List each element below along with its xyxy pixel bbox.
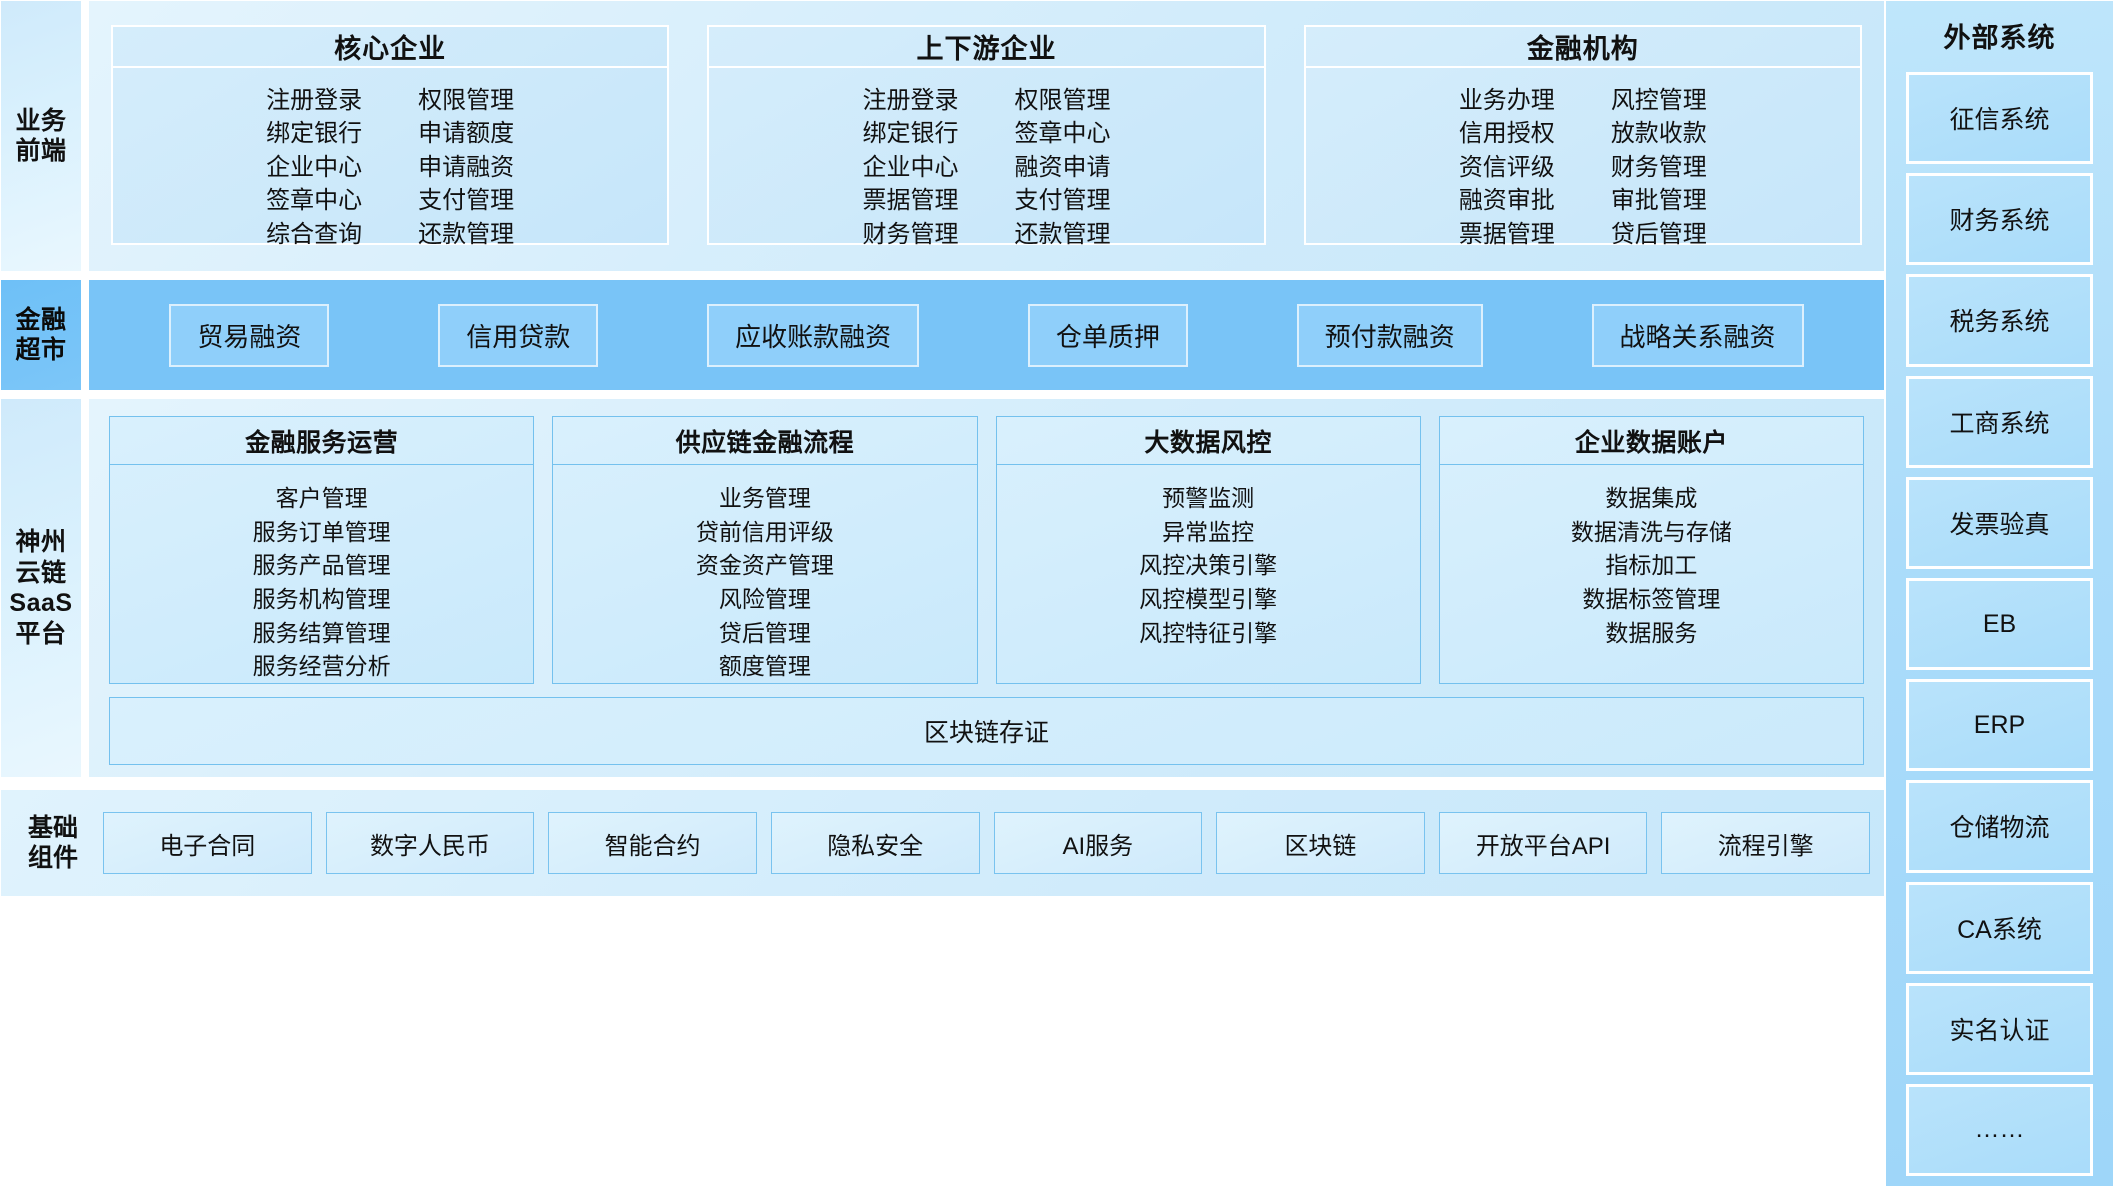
band-label-line1: 神州: [15, 528, 66, 556]
list-item: 绑定银行: [266, 118, 362, 149]
band-body-base-components: 基础 组件 电子合同 数字人民币 智能合约 隐私安全 AI服务 区块链 开放平台…: [0, 789, 1885, 897]
base-chip-process-engine[interactable]: 流程引擎: [1661, 812, 1870, 874]
card-body-upstream-downstream: 注册登录 绑定银行 企业中心 票据管理 财务管理 权限管理 签章中心 融资申请 …: [709, 68, 1263, 260]
list-item: 支付管理: [1014, 185, 1110, 216]
list-item: 客户管理: [276, 482, 368, 515]
feature-list-col2: 权限管理 签章中心 融资申请 支付管理 还款管理: [1014, 85, 1110, 250]
band-label-financial-market: 金融 超市: [0, 279, 82, 391]
band-financial-market: 金融 超市 贸易融资 信用贷款 应收账款融资 仓单质押 预付款融资 战略关系融资: [0, 279, 1885, 391]
list-item: 签章中心: [266, 185, 362, 216]
band-label-line2: 组件: [28, 844, 78, 872]
card-title-upstream-downstream: 上下游企业: [709, 27, 1263, 68]
card-core-enterprise[interactable]: 核心企业 注册登录 绑定银行 企业中心 签章中心 综合查询 权限管理 申请额度: [111, 25, 669, 245]
sidebar-item-more[interactable]: ……: [1906, 1084, 2093, 1176]
list-item: 融资申请: [1014, 152, 1110, 183]
list-item: 票据管理: [862, 185, 958, 216]
band-label-saas-platform: 神州 云链 SaaS 平台: [0, 398, 82, 778]
band-label-line4: 平台: [15, 620, 66, 648]
list-item: 融资审批: [1459, 185, 1555, 216]
feature-list-col2: 权限管理 申请额度 申请融资 支付管理 还款管理: [418, 85, 514, 250]
list-item: 数据清洗与存储: [1571, 516, 1732, 549]
card-title-big-data-risk-control: 大数据风控: [997, 417, 1420, 465]
sidebar-item-invoice-verification[interactable]: 发票验真: [1906, 477, 2093, 569]
card-title-financial-service-operation: 金融服务运营: [110, 417, 533, 465]
band-body-saas-platform: 金融服务运营 客户管理 服务订单管理 服务产品管理 服务机构管理 服务结算管理 …: [88, 398, 1885, 778]
list-item: 数据标签管理: [1582, 583, 1720, 616]
list-item: 资信评级: [1459, 152, 1555, 183]
list-item: 还款管理: [1014, 219, 1110, 250]
base-chip-privacy-security[interactable]: 隐私安全: [771, 812, 980, 874]
sidebar-item-business-registration-system[interactable]: 工商系统: [1906, 376, 2093, 468]
list-item: 服务产品管理: [253, 549, 391, 582]
sidebar-item-ca-system[interactable]: CA系统: [1906, 882, 2093, 974]
list-item: 权限管理: [1014, 85, 1110, 116]
band-body-business-frontend: 核心企业 注册登录 绑定银行 企业中心 签章中心 综合查询 权限管理 申请额度: [88, 0, 1885, 272]
sidebar-item-eb[interactable]: EB: [1906, 578, 2093, 670]
list-item: 贷前信用评级: [696, 516, 834, 549]
sidebar-item-warehouse-logistics[interactable]: 仓储物流: [1906, 780, 2093, 872]
list-item: 财务管理: [1611, 152, 1707, 183]
base-chip-smart-contract[interactable]: 智能合约: [548, 812, 757, 874]
list-item: 注册登录: [266, 85, 362, 116]
market-chip-strategic-relation-finance[interactable]: 战略关系融资: [1592, 304, 1804, 367]
list-item: 签章中心: [1014, 118, 1110, 149]
card-title-core-enterprise: 核心企业: [113, 27, 667, 68]
feature-list-col1: 注册登录 绑定银行 企业中心 票据管理 财务管理: [862, 85, 958, 250]
feature-list-col1: 业务办理 信用授权 资信评级 融资审批 票据管理: [1459, 85, 1555, 250]
sidebar-item-real-name-authentication[interactable]: 实名认证: [1906, 983, 2093, 1075]
external-systems-sidebar: 外部系统 征信系统 财务系统 税务系统 工商系统 发票验真 EB ERP 仓储物…: [1885, 0, 2114, 1187]
list-item: 额度管理: [719, 650, 811, 683]
sidebar-item-credit-system[interactable]: 征信系统: [1906, 72, 2093, 164]
list-item: 权限管理: [418, 85, 514, 116]
list-item: 贷后管理: [1611, 219, 1707, 250]
card-enterprise-data-account[interactable]: 企业数据账户 数据集成 数据清洗与存储 指标加工 数据标签管理 数据服务: [1439, 416, 1864, 684]
market-chip-trade-finance[interactable]: 贸易融资: [169, 304, 329, 367]
card-body-enterprise-data-account: 数据集成 数据清洗与存储 指标加工 数据标签管理 数据服务: [1440, 465, 1863, 683]
base-chip-digital-rmb[interactable]: 数字人民币: [326, 812, 535, 874]
list-item: 注册登录: [862, 85, 958, 116]
band-body-financial-market: 贸易融资 信用贷款 应收账款融资 仓单质押 预付款融资 战略关系融资: [88, 279, 1885, 391]
card-supply-chain-finance-process[interactable]: 供应链金融流程 业务管理 贷前信用评级 资金资产管理 风险管理 贷后管理 额度管…: [552, 416, 977, 684]
list-item: 信用授权: [1459, 118, 1555, 149]
card-title-financial-institution: 金融机构: [1306, 27, 1860, 68]
saas-card-row: 金融服务运营 客户管理 服务订单管理 服务产品管理 服务机构管理 服务结算管理 …: [109, 416, 1864, 684]
band-label-base-components: 基础 组件: [17, 813, 89, 873]
list-item: 申请融资: [418, 152, 514, 183]
blockchain-evidence-bar[interactable]: 区块链存证: [109, 697, 1864, 765]
card-financial-service-operation[interactable]: 金融服务运营 客户管理 服务订单管理 服务产品管理 服务机构管理 服务结算管理 …: [109, 416, 534, 684]
base-chip-blockchain[interactable]: 区块链: [1216, 812, 1425, 874]
sidebar-item-finance-system[interactable]: 财务系统: [1906, 173, 2093, 265]
band-business-frontend: 业务 前端 核心企业 注册登录 绑定银行 企业中心 签章中心 综合查询: [0, 0, 1885, 272]
card-body-financial-service-operation: 客户管理 服务订单管理 服务产品管理 服务机构管理 服务结算管理 服务经营分析: [110, 465, 533, 683]
band-label-line2: 前端: [15, 137, 66, 165]
card-title-enterprise-data-account: 企业数据账户: [1440, 417, 1863, 465]
band-saas-platform: 神州 云链 SaaS 平台 金融服务运营 客户管理 服务订单管理 服务产品管理 …: [0, 398, 1885, 778]
list-item: 异常监控: [1162, 516, 1254, 549]
band-label-business-frontend: 业务 前端: [0, 0, 82, 272]
list-item: 还款管理: [418, 219, 514, 250]
base-chip-open-platform-api[interactable]: 开放平台API: [1439, 812, 1648, 874]
list-item: 数据集成: [1605, 482, 1697, 515]
card-big-data-risk-control[interactable]: 大数据风控 预警监测 异常监控 风控决策引擎 风控模型引擎 风控特征引擎: [996, 416, 1421, 684]
list-item: 资金资产管理: [696, 549, 834, 582]
list-item: 服务机构管理: [253, 583, 391, 616]
list-item: 财务管理: [862, 219, 958, 250]
feature-list-col1: 注册登录 绑定银行 企业中心 签章中心 综合查询: [266, 85, 362, 250]
band-label-line2: 云链: [15, 559, 66, 587]
market-chip-credit-loan[interactable]: 信用贷款: [438, 304, 598, 367]
card-body-supply-chain-finance-process: 业务管理 贷前信用评级 资金资产管理 风险管理 贷后管理 额度管理: [553, 465, 976, 683]
band-label-line1: 金融: [15, 306, 66, 334]
market-chip-receivables-finance[interactable]: 应收账款融资: [707, 304, 919, 367]
list-item: 票据管理: [1459, 219, 1555, 250]
list-item: 服务经营分析: [253, 650, 391, 683]
card-body-big-data-risk-control: 预警监测 异常监控 风控决策引擎 风控模型引擎 风控特征引擎: [997, 465, 1420, 683]
card-title-supply-chain-finance-process: 供应链金融流程: [553, 417, 976, 465]
card-upstream-downstream-enterprise[interactable]: 上下游企业 注册登录 绑定银行 企业中心 票据管理 财务管理 权限管理 签章中心: [707, 25, 1265, 245]
band-label-line2: 超市: [15, 336, 66, 364]
market-chip-warehouse-receipt-pledge[interactable]: 仓单质押: [1028, 304, 1188, 367]
sidebar-title: 外部系统: [1944, 10, 2056, 63]
list-item: 放款收款: [1611, 118, 1707, 149]
list-item: 风控特征引擎: [1139, 617, 1277, 650]
base-chip-ai-service[interactable]: AI服务: [994, 812, 1203, 874]
architecture-diagram: 业务 前端 核心企业 注册登录 绑定银行 企业中心 签章中心 综合查询: [0, 0, 2114, 1187]
list-item: 服务结算管理: [253, 617, 391, 650]
card-financial-institution[interactable]: 金融机构 业务办理 信用授权 资信评级 融资审批 票据管理 风控管理 放款收款: [1304, 25, 1862, 245]
main-column: 业务 前端 核心企业 注册登录 绑定银行 企业中心 签章中心 综合查询: [0, 0, 1885, 1187]
base-chip-electronic-contract[interactable]: 电子合同: [103, 812, 312, 874]
list-item: 风控模型引擎: [1139, 583, 1277, 616]
list-item: 审批管理: [1611, 185, 1707, 216]
list-item: 企业中心: [266, 152, 362, 183]
band-label-line1: 业务: [15, 107, 66, 135]
list-item: 业务办理: [1459, 85, 1555, 116]
list-item: 指标加工: [1605, 549, 1697, 582]
card-body-financial-institution: 业务办理 信用授权 资信评级 融资审批 票据管理 风控管理 放款收款 财务管理 …: [1306, 68, 1860, 260]
sidebar-item-erp[interactable]: ERP: [1906, 679, 2093, 771]
card-body-core-enterprise: 注册登录 绑定银行 企业中心 签章中心 综合查询 权限管理 申请额度 申请融资 …: [113, 68, 667, 260]
list-item: 企业中心: [862, 152, 958, 183]
list-item: 预警监测: [1162, 482, 1254, 515]
list-item: 风险管理: [719, 583, 811, 616]
list-item: 绑定银行: [862, 118, 958, 149]
list-item: 风控管理: [1611, 85, 1707, 116]
list-item: 贷后管理: [719, 617, 811, 650]
list-item: 风控决策引擎: [1139, 549, 1277, 582]
list-item: 服务订单管理: [253, 516, 391, 549]
feature-list-col2: 风控管理 放款收款 财务管理 审批管理 贷后管理: [1611, 85, 1707, 250]
list-item: 业务管理: [719, 482, 811, 515]
band-label-line1: 基础: [28, 814, 78, 842]
market-chip-prepayment-finance[interactable]: 预付款融资: [1297, 304, 1483, 367]
list-item: 综合查询: [266, 219, 362, 250]
list-item: 数据服务: [1605, 617, 1697, 650]
band-base-components: 基础 组件 电子合同 数字人民币 智能合约 隐私安全 AI服务 区块链 开放平台…: [0, 789, 1885, 897]
sidebar-item-tax-system[interactable]: 税务系统: [1906, 274, 2093, 366]
band-label-line3: SaaS: [9, 589, 72, 617]
list-item: 申请额度: [418, 118, 514, 149]
list-item: 支付管理: [418, 185, 514, 216]
